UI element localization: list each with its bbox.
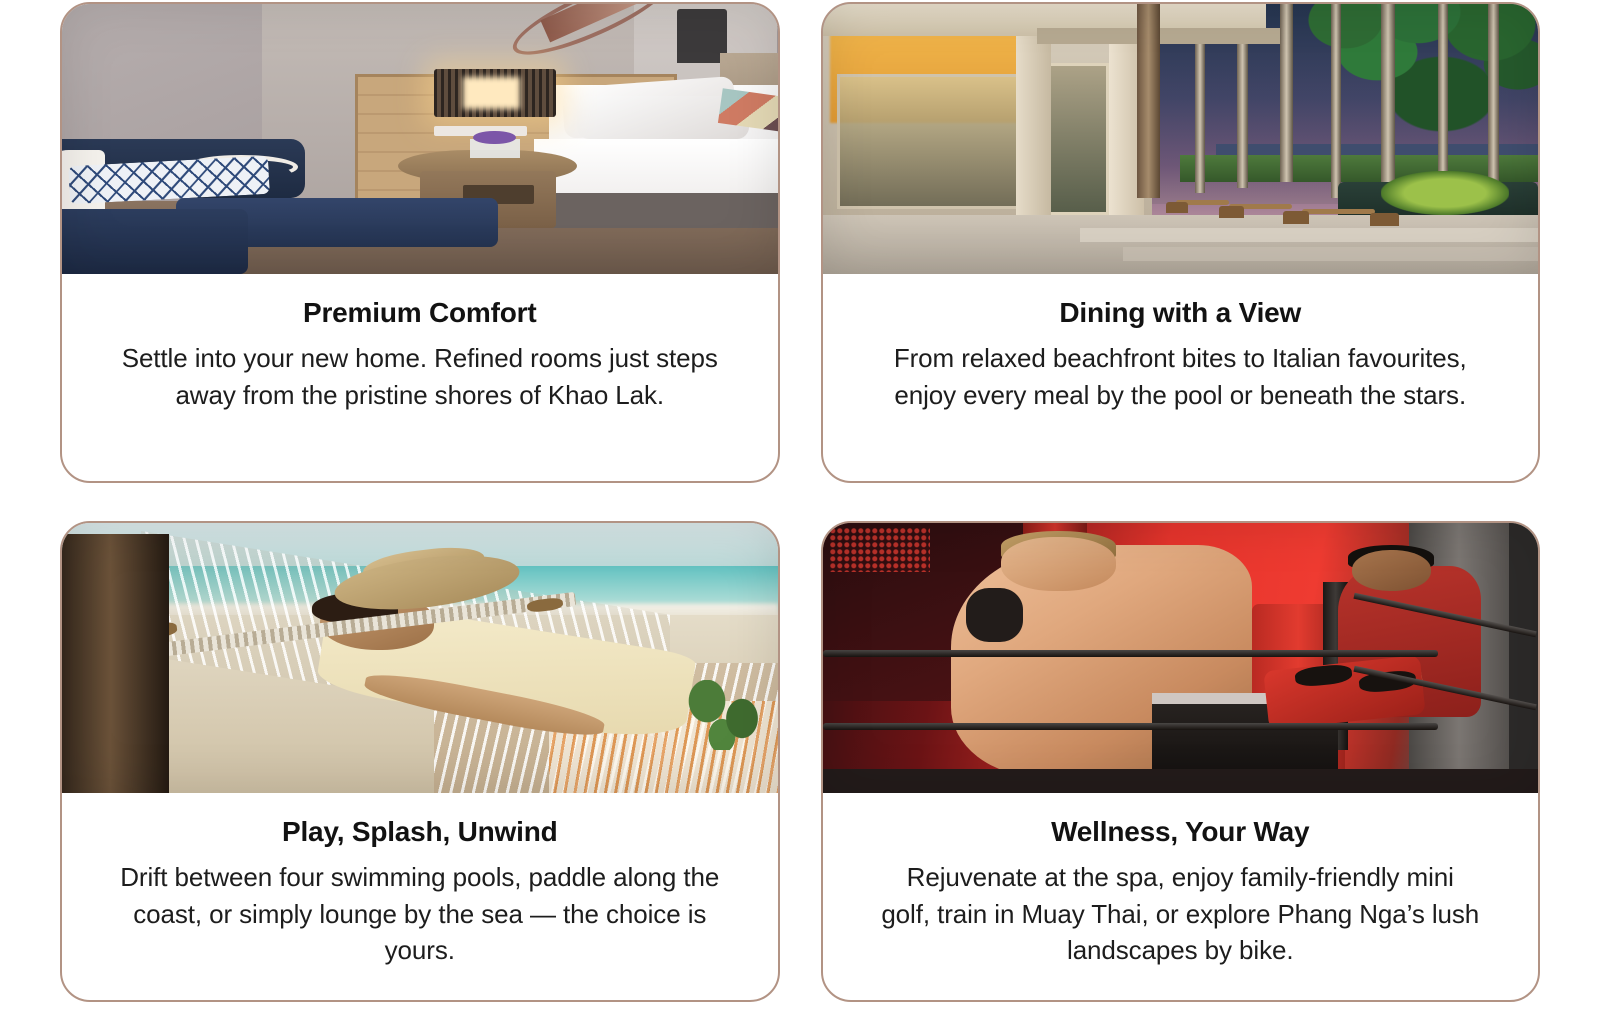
card-title: Wellness, Your Way: [1051, 815, 1309, 849]
feature-card-dining-with-a-view[interactable]: Dining with a View From relaxed beachfro…: [821, 2, 1541, 483]
feature-card-premium-comfort[interactable]: Premium Comfort Settle into your new hom…: [60, 2, 780, 483]
card-description: Settle into your new home. Refined rooms…: [120, 340, 720, 414]
card-description: Drift between four swimming pools, paddl…: [120, 859, 720, 970]
card-description: Rejuvenate at the spa, enjoy family-frie…: [880, 859, 1480, 970]
card-body: Dining with a View From relaxed beachfro…: [823, 274, 1539, 481]
card-title: Dining with a View: [1059, 296, 1301, 330]
feature-card-grid: Premium Comfort Settle into your new hom…: [0, 0, 1600, 1029]
card-body: Wellness, Your Way Rejuvenate at the spa…: [823, 793, 1539, 1000]
muay-thai-training-photo: AVANI FiT AVANI FiT: [823, 523, 1539, 793]
card-description: From relaxed beachfront bites to Italian…: [880, 340, 1480, 414]
feature-card-play-splash-unwind[interactable]: Play, Splash, Unwind Drift between four …: [60, 521, 780, 1002]
card-body: Premium Comfort Settle into your new hom…: [62, 274, 778, 481]
card-body: Play, Splash, Unwind Drift between four …: [62, 793, 778, 1000]
beach-hammock-photo: [62, 523, 778, 793]
hotel-room-photo: [62, 4, 778, 274]
beachfront-dining-photo: [823, 4, 1539, 274]
feature-card-wellness-your-way[interactable]: AVANI FiT AVANI FiT: [821, 521, 1541, 1002]
card-title: Play, Splash, Unwind: [282, 815, 558, 849]
card-title: Premium Comfort: [303, 296, 536, 330]
